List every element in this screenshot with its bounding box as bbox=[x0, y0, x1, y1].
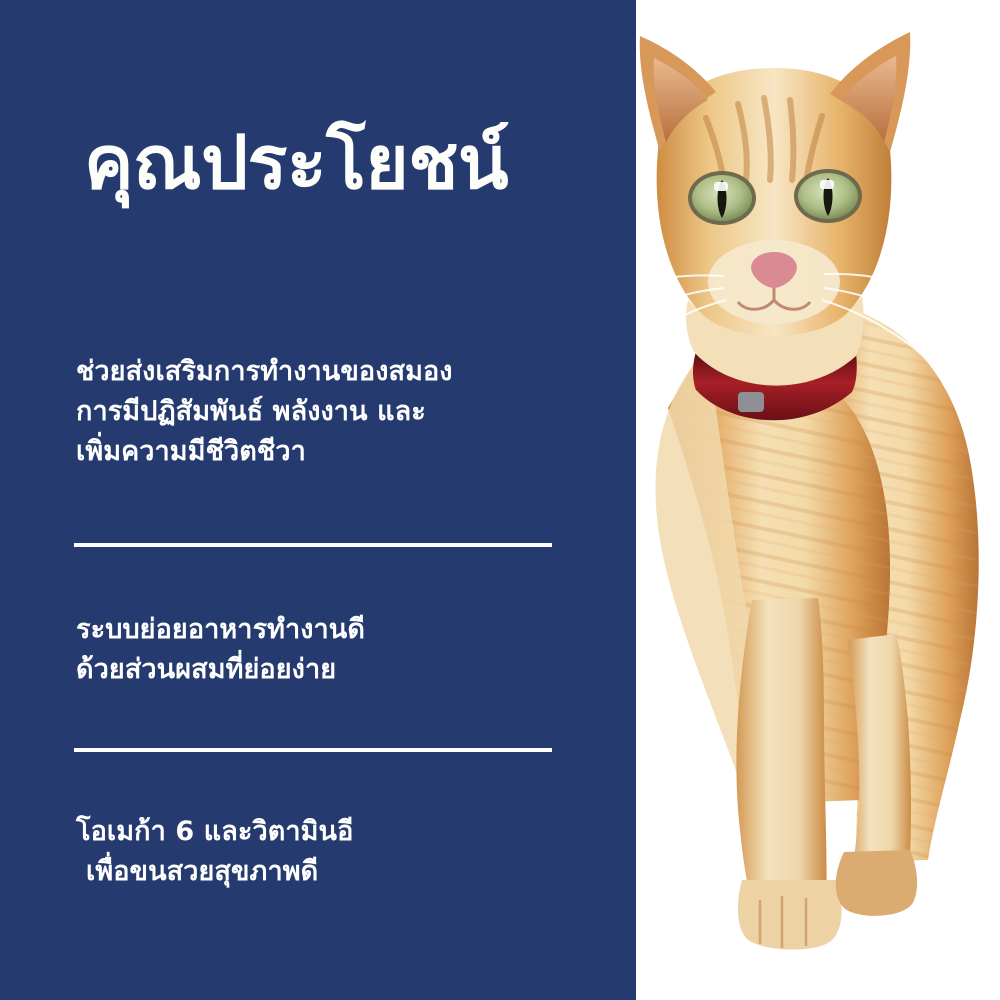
section-divider bbox=[74, 748, 552, 752]
benefits-panel: คุณประโยชน์ ช่วยส่งเสริมการทำงานของสมอง … bbox=[0, 0, 636, 1000]
benefit-item-digestion: ระบบย่อยอาหารทำงานดี ด้วยส่วนผสมที่ย่อยง… bbox=[76, 610, 576, 690]
cat-paw-left bbox=[738, 880, 842, 950]
benefit-line: ช่วยส่งเสริมการทำงานของสมอง bbox=[76, 352, 576, 392]
cat-eye-left bbox=[688, 171, 756, 225]
benefit-line: การมีปฏิสัมพันธ์ พลังงาน และ bbox=[76, 392, 576, 432]
page-title: คุณประโยชน์ bbox=[84, 125, 604, 203]
benefit-line: เพิ่มความมีชีวิตชีวา bbox=[76, 432, 576, 472]
cat-eye-right bbox=[794, 169, 862, 223]
cat-photo bbox=[636, 0, 1000, 1000]
benefit-line: ระบบย่อยอาหารทำงานดี bbox=[76, 610, 576, 650]
cat-photo-stage bbox=[636, 0, 1000, 1000]
cat-front-leg-left bbox=[736, 598, 826, 902]
collar-buckle bbox=[738, 392, 764, 412]
benefits-poster: คุณประโยชน์ ช่วยส่งเสริมการทำงานของสมอง … bbox=[0, 0, 1000, 1000]
benefit-line: โอเมก้า 6 และวิตามินอี bbox=[76, 812, 576, 852]
section-divider bbox=[74, 543, 552, 547]
benefit-item-brain: ช่วยส่งเสริมการทำงานของสมอง การมีปฏิสัมพ… bbox=[76, 352, 576, 472]
benefit-item-coat: โอเมก้า 6 และวิตามินอี เพื่อขนสวยสุขภาพด… bbox=[76, 812, 576, 892]
cat-paw-right bbox=[836, 850, 917, 916]
benefit-line: เพื่อขนสวยสุขภาพดี bbox=[76, 852, 576, 892]
benefit-line: ด้วยส่วนผสมที่ย่อยง่าย bbox=[76, 650, 576, 690]
